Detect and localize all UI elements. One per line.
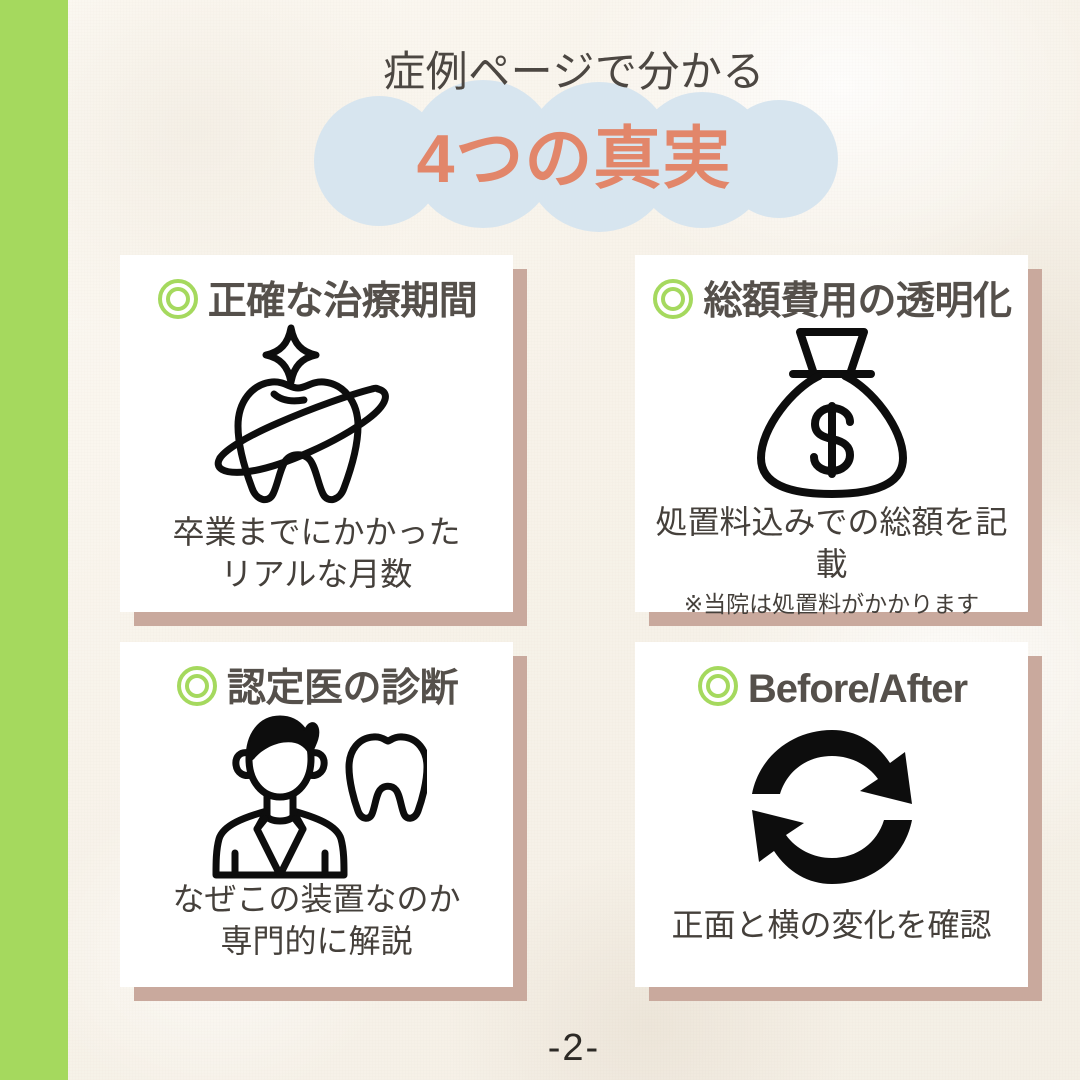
double-circle-icon [651, 277, 695, 326]
tooth-sparkle-icon [212, 322, 422, 512]
feature-card-grid: 正確な治療期間 [120, 255, 1028, 1003]
money-bag-icon [737, 322, 927, 502]
feature-card-accurate-treatment-period[interactable]: 正確な治療期間 [120, 255, 513, 612]
feature-card-before-after[interactable]: Before/After 正面と横の変化を確認 [635, 642, 1028, 987]
card-3-body-line-2: 専門的に解説 [172, 921, 460, 963]
dentist-tooth-icon [207, 707, 427, 879]
card-3-illustration [120, 707, 513, 879]
feature-card-certified-doctor-diagnosis[interactable]: 認定医の診断 [120, 642, 513, 987]
feature-card-total-cost-transparency[interactable]: 総額費用の透明化 処置料込みでの総額 [635, 255, 1028, 612]
double-circle-icon [696, 664, 740, 713]
page-header: 症例ページで分かる 4つの真実 [68, 0, 1080, 240]
card-4-title: Before/After [748, 669, 967, 709]
double-circle-icon [175, 664, 219, 713]
slide-canvas: 症例ページで分かる 4つの真実 正確な治療期間 [0, 0, 1080, 1080]
card-2-note: ※当院は処置料がかかります [678, 585, 985, 639]
card-3-title: 認定医の診断 [227, 669, 458, 708]
card-3-title-row: 認定医の診断 [175, 664, 458, 713]
card-1-body-line-1: 卒業までにかかった [172, 512, 460, 554]
header-subtitle: 症例ページで分かる [68, 38, 1080, 99]
card-3-body-line-1: なぜこの装置なのか [172, 879, 460, 921]
card-2-title-row: 総額費用の透明化 [651, 277, 1011, 326]
card-4-illustration [635, 709, 1028, 905]
card-1-body-line-2: リアルな月数 [172, 554, 460, 596]
card-1-title: 正確な治療期間 [208, 282, 478, 321]
page-number: -2- [68, 1027, 1080, 1070]
left-accent-bar [0, 0, 68, 1080]
double-circle-icon [156, 277, 200, 326]
page-title: 4つの真実 [68, 103, 1080, 202]
card-4-body-line-1: 正面と横の変化を確認 [671, 905, 991, 947]
card-2-body-line-1: 処置料込みでの総額を記載 [645, 502, 1018, 585]
card-2-illustration [635, 322, 1028, 502]
card-2-body: 処置料込みでの総額を記載 [635, 502, 1028, 589]
card-2-title: 総額費用の透明化 [703, 282, 1011, 321]
card-1-title-row: 正確な治療期間 [156, 277, 478, 326]
card-1-illustration [120, 322, 513, 512]
refresh-cycle-icon [742, 722, 922, 892]
card-3-body: なぜこの装置なのか 専門的に解説 [162, 879, 470, 992]
card-4-title-row: Before/After [696, 664, 967, 713]
card-1-body: 卒業までにかかった リアルな月数 [162, 512, 470, 643]
card-4-body: 正面と横の変化を確認 [661, 905, 1001, 987]
